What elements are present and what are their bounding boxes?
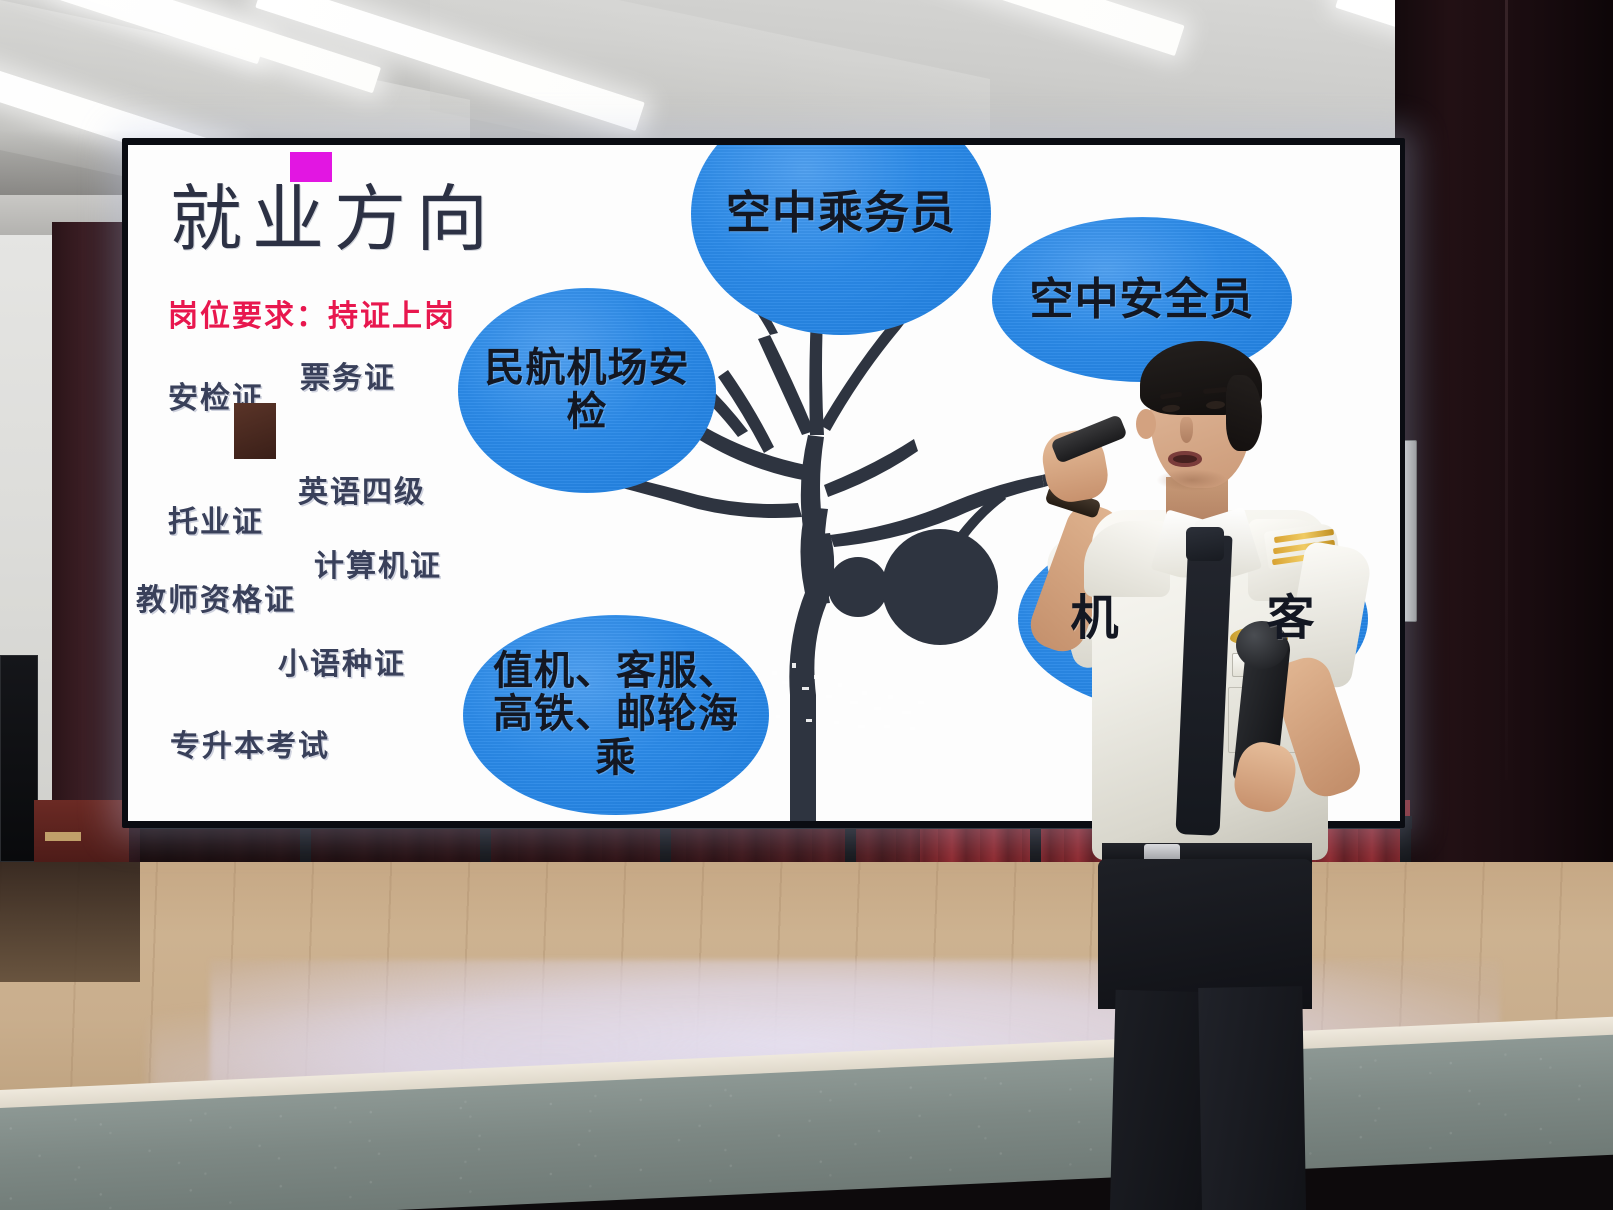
slide-artifact-block [234,403,276,459]
certificate-item: 小语种证 [278,639,406,683]
certificate-item: 教师资格证 [136,575,296,619]
presenter-ear [1136,409,1156,439]
presenter-mouth-inner [1173,455,1197,463]
presenter-leg-right [1198,986,1310,1210]
right-curtain-fold [1505,0,1508,780]
job-bubble-label: 民航机场安检 [458,347,716,433]
certificate-item: 英语四级 [298,467,426,511]
job-bubble-ground-service: 值机、客服、高铁、邮轮海乘 [463,615,769,815]
job-bubble-label: 值机、客服、高铁、邮轮海乘 [463,650,769,780]
presenter [1040,335,1380,1170]
certificate-item: 计算机证 [314,541,442,585]
certificate-item: 票务证 [300,353,396,397]
job-bubble-airport-security: 民航机场安检 [458,288,716,493]
certificate-item: 托业证 [168,497,264,541]
job-bubble-label: 空中安全员 [1020,276,1265,324]
left-brass-plate [45,832,81,841]
left-speaker-cabinet [0,655,38,862]
presenter-nose [1180,417,1193,443]
certificate-item: 专升本考试 [170,721,330,765]
job-bubble-label: 机 客 [1060,593,1325,645]
necktie-knot [1186,527,1224,561]
right-curtain [1395,0,1613,900]
presenter-leg-left [1104,990,1213,1210]
stage-floor-shadow [0,862,140,982]
job-bubble-label: 空中乘务员 [716,189,966,238]
page-title: 就业方向 [170,160,498,265]
slide-subtitle: 岗位要求：持证上岗 [168,291,456,335]
presenter-chin-shadow [1156,469,1228,491]
photo-scene: 就业方向 岗位要求：持证上岗 安检证票务证托业证英语四级教师资格证计算机证小语种… [0,0,1613,1210]
